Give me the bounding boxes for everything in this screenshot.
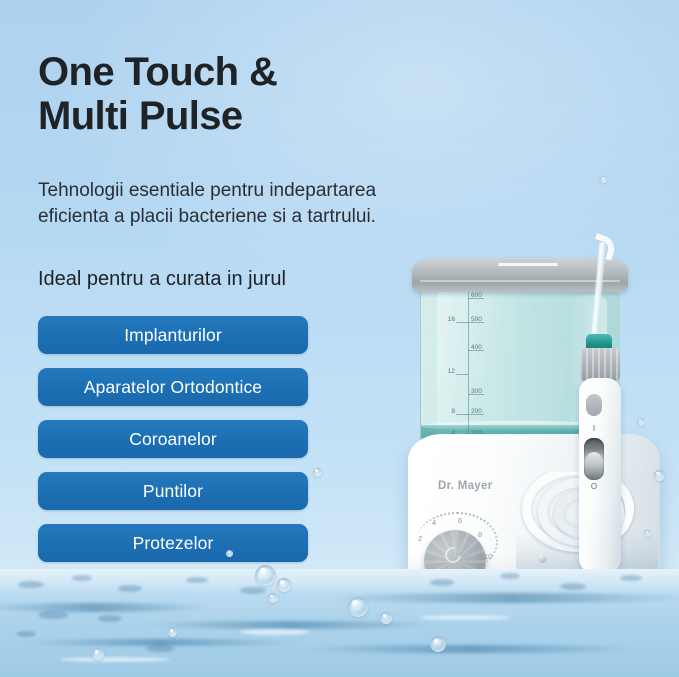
- water-highlight: [420, 615, 510, 620]
- promo-banner: One Touch & Multi Pulse Tehnologii esent…: [0, 0, 679, 677]
- dial-number: 6: [458, 516, 462, 525]
- water-ripple: [430, 579, 454, 586]
- scale-label-ml: 500: [471, 316, 482, 323]
- water-ripple: [118, 585, 142, 592]
- handle-grip: [580, 348, 620, 382]
- water-ripple: [72, 575, 92, 581]
- water-ripple: [240, 587, 266, 594]
- pill-implanturilor[interactable]: Implanturilor: [38, 316, 308, 354]
- water-droplet: [92, 648, 104, 660]
- scale-label-ml: 300: [471, 388, 482, 395]
- water-droplet: [226, 550, 233, 557]
- water-droplet: [168, 628, 177, 637]
- scale-label-ml: 600: [471, 292, 482, 299]
- pill-protezelor[interactable]: Protezelor: [38, 524, 308, 562]
- pill-label: Puntilor: [143, 481, 203, 502]
- water-ripple: [16, 631, 36, 637]
- subtitle-text: Tehnologii esentiale pentru indepartarea…: [38, 178, 376, 230]
- water-ripple: [186, 577, 208, 583]
- scale-label-oz: 8: [442, 408, 455, 415]
- water-ripple: [18, 581, 44, 588]
- water-streak: [0, 603, 210, 612]
- scale-row: 600: [442, 292, 498, 304]
- switch-knob[interactable]: [586, 452, 602, 468]
- pill-puntilor[interactable]: Puntilor: [38, 472, 308, 510]
- grip-ridges: [580, 348, 620, 382]
- pill-label: Implanturilor: [124, 325, 222, 346]
- handle-pause-button[interactable]: [586, 394, 602, 416]
- dial-number: 2: [418, 534, 422, 543]
- scale-tick-icon: [456, 414, 468, 415]
- scale-row: 400: [442, 344, 498, 356]
- water-droplet: [644, 530, 651, 537]
- page-title: One Touch & Multi Pulse: [38, 50, 277, 138]
- scale-row: 200 8: [442, 408, 498, 420]
- scale-row: 500 16: [442, 316, 498, 328]
- scale-tick-icon: [456, 322, 468, 323]
- water-droplet: [313, 468, 322, 477]
- water-highlight: [60, 657, 170, 662]
- pill-label: Coroanelor: [129, 429, 217, 450]
- nozzle-curve: [590, 233, 618, 261]
- dial-number: 4: [432, 518, 436, 527]
- water-droplet: [277, 578, 291, 592]
- water-ripple: [146, 645, 174, 652]
- scale-label-oz: 16: [442, 316, 455, 323]
- scale-label-ml: 200: [471, 408, 482, 415]
- pill-aparatelor-ortodontice[interactable]: Aparatelor Ortodontice: [38, 368, 308, 406]
- power-switch[interactable]: [584, 438, 604, 480]
- switch-off-label: O: [573, 482, 615, 491]
- water-ripple: [98, 615, 122, 622]
- water-streak: [140, 621, 440, 629]
- water-droplet: [654, 470, 665, 481]
- flosser-handle[interactable]: I O: [573, 242, 629, 572]
- scale-label-oz: 12: [442, 368, 455, 375]
- water-streak: [330, 593, 679, 603]
- pill-label: Protezelor: [133, 533, 214, 554]
- section-label: Ideal pentru a curata in jurul: [38, 268, 286, 291]
- water-surface: [0, 569, 679, 677]
- water-droplet: [430, 636, 446, 652]
- tank-measurement-scale: 600 500 16 400 12 300 200: [442, 292, 498, 437]
- pill-label: Aparatelor Ortodontice: [84, 377, 262, 398]
- scale-row: 300: [442, 388, 498, 400]
- water-ripple: [38, 611, 68, 619]
- screw-icon: [538, 554, 547, 563]
- water-droplet: [268, 593, 278, 603]
- benefit-pill-list: Implanturilor Aparatelor Ortodontice Cor…: [38, 316, 308, 562]
- water-highlight: [240, 629, 310, 635]
- switch-on-label: I: [573, 424, 615, 433]
- water-droplet: [348, 597, 368, 617]
- water-ripple: [620, 575, 642, 581]
- dial-number: 8: [478, 530, 482, 539]
- lid-highlight: [498, 263, 558, 266]
- pill-coroanelor[interactable]: Coroanelor: [38, 420, 308, 458]
- water-ripple: [500, 573, 520, 579]
- brand-label: Dr. Mayer: [438, 480, 492, 492]
- water-streak: [300, 645, 640, 653]
- water-ripple: [560, 583, 586, 590]
- scale-label-ml: 400: [471, 344, 482, 351]
- scale-row: 12: [442, 368, 498, 380]
- water-droplet: [380, 612, 392, 624]
- scale-tick-icon: [456, 374, 468, 375]
- water-droplet: [637, 418, 645, 426]
- water-droplet: [255, 565, 276, 586]
- water-droplet: [600, 176, 607, 183]
